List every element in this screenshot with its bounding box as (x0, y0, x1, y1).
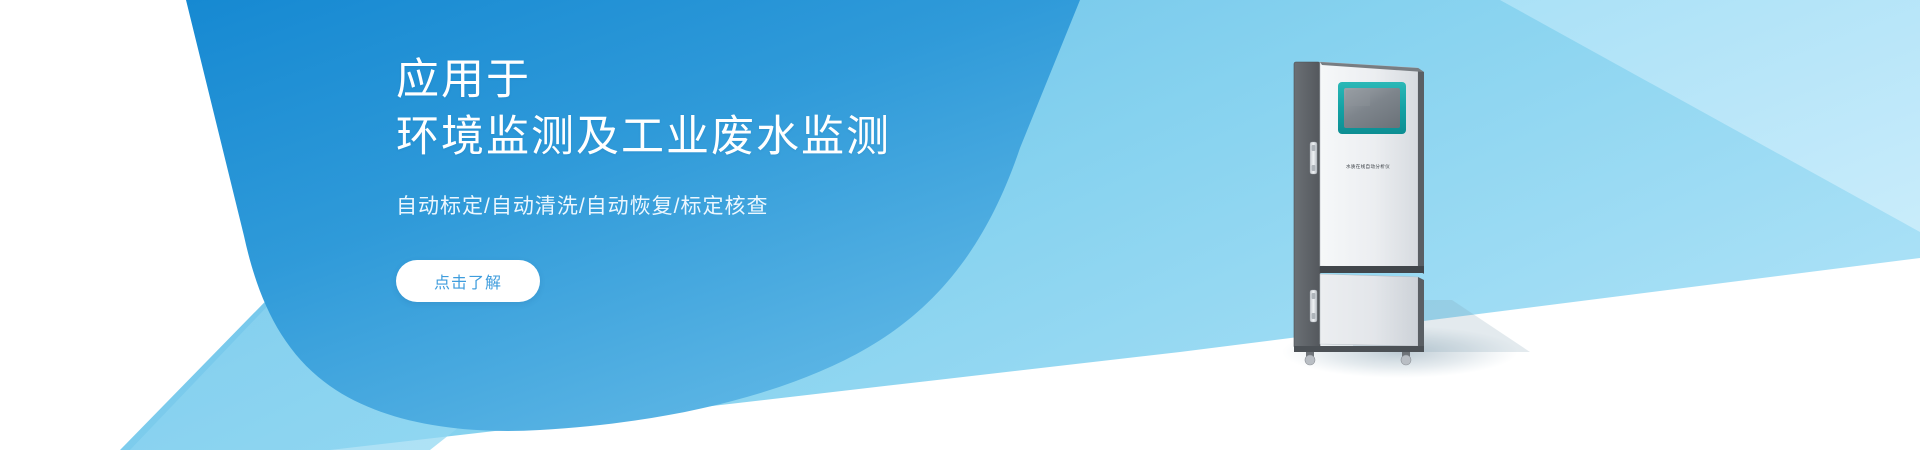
learn-more-button[interactable]: 点击了解 (396, 260, 540, 302)
hero-banner: 应用于 环境监测及工业废水监测 自动标定/自动清洗/自动恢复/标定核查 点击了解 (0, 0, 1920, 450)
cabinet-lower-door (1320, 274, 1424, 348)
headline-line-1: 应用于 (396, 52, 1156, 109)
product-image-water-quality-analyzer: 水质在线自动分析仪 (1292, 58, 1452, 368)
upper-door-handle (1310, 142, 1317, 174)
headline-line-2: 环境监测及工业废水监测 (396, 109, 1156, 166)
caster-wheel-right (1401, 352, 1411, 365)
lower-door-handle (1310, 290, 1317, 322)
hero-copy: 应用于 环境监测及工业废水监测 自动标定/自动清洗/自动恢复/标定核查 点击了解 (396, 52, 1156, 302)
caster-wheel-left (1305, 352, 1315, 365)
device-label: 水质在线自动分析仪 (1346, 163, 1390, 170)
cta-wrapper: 点击了解 (396, 222, 1156, 302)
display-screen (1338, 82, 1406, 134)
hero-subtitle: 自动标定/自动清洗/自动恢复/标定核查 (396, 192, 1156, 222)
